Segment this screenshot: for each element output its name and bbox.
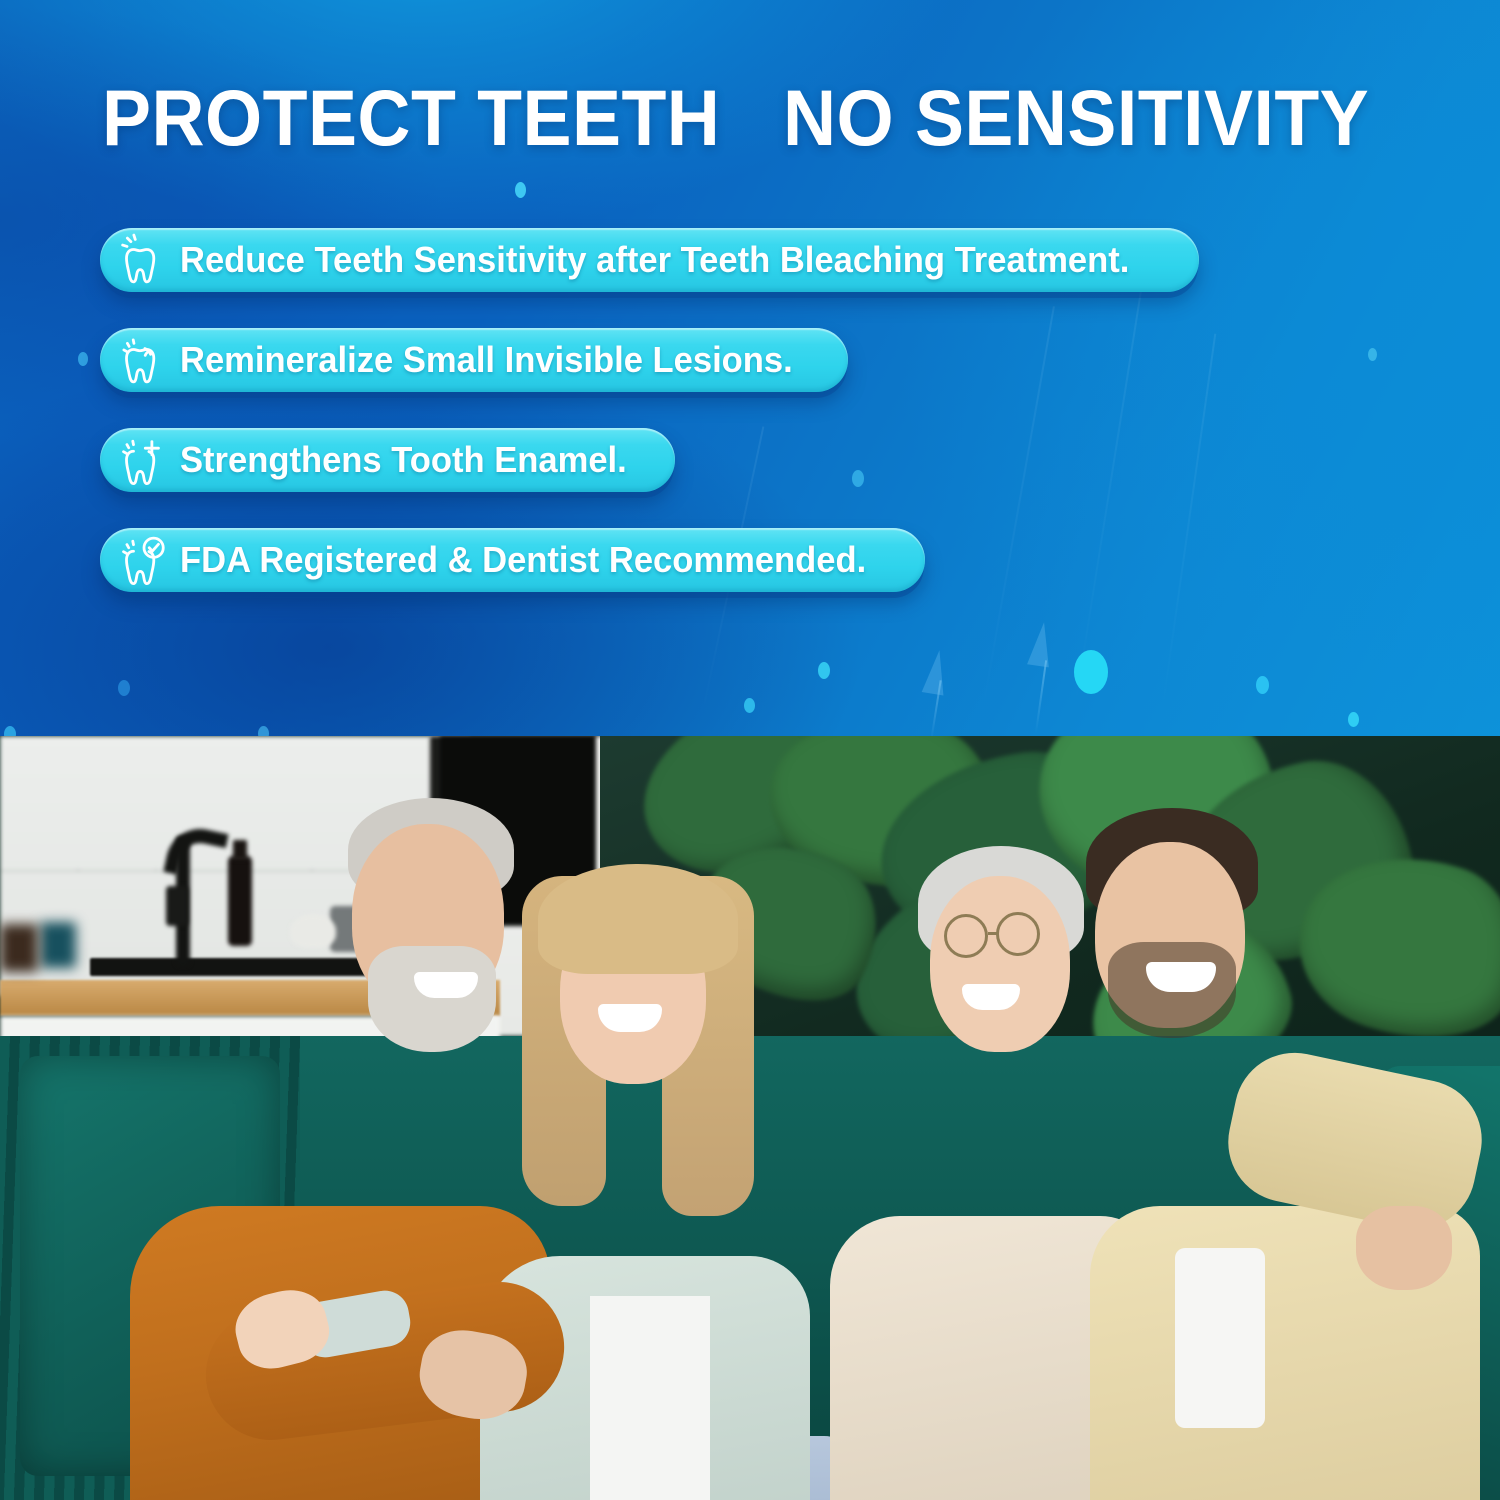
glasses-bridge [988,932,998,935]
tooth-check-icon [116,532,172,588]
decor-dot [78,352,88,366]
decor-dot [258,726,269,736]
promo-banner-page: PROTECT TEETH NO SENSITIVITY Reduce Teet… [0,0,1500,1500]
glasses-right-lens [996,912,1040,956]
older-man-smile [414,972,478,998]
feature-row: FDA Registered & Dentist Recommended. [100,528,1199,628]
decor-dot [1368,348,1377,361]
lifestyle-photo [0,736,1500,1500]
decor-dot [4,726,16,736]
feature-pill-fda[interactable]: FDA Registered & Dentist Recommended. [100,528,925,592]
decor-dot [118,680,130,696]
tooth-sensitivity-icon [116,232,172,288]
soap-dispenser-pump [233,840,247,860]
page-title: PROTECT TEETH NO SENSITIVITY [102,78,1339,157]
feature-pill-sensitivity[interactable]: Reduce Teeth Sensitivity after Teeth Ble… [100,228,1199,292]
decor-dot [1256,676,1269,694]
feature-list: Reduce Teeth Sensitivity after Teeth Ble… [100,228,1199,628]
white-bowl [290,914,336,948]
feature-row: Strengthens Tooth Enamel. [100,428,1199,528]
young-man-hand [1356,1206,1452,1290]
banner-section: PROTECT TEETH NO SENSITIVITY Reduce Teet… [0,0,1500,736]
decor-dot [1074,650,1108,694]
tooth-plus-icon [116,432,172,488]
young-woman-smile [598,1004,662,1032]
older-woman-face [930,876,1070,1052]
decor-dot [515,182,526,198]
decor-dot [818,662,830,679]
feature-row: Remineralize Small Invisible Lesions. [100,328,1199,428]
decor-dot [744,698,755,713]
young-man-smile [1146,962,1216,992]
young-woman-tee [590,1296,710,1500]
soap-dispenser [228,856,252,946]
older-man-beard [368,946,496,1052]
brown-jar [0,924,38,972]
young-woman-hair-top [538,864,738,974]
older-woman-smile [962,984,1020,1010]
tooth-lesion-icon [116,332,172,388]
decor-dot [1348,712,1359,727]
glasses-left-lens [944,914,988,958]
feature-row: Reduce Teeth Sensitivity after Teeth Ble… [100,228,1199,328]
faucet-head [166,886,188,926]
teal-mug [40,922,76,968]
feature-pill-remineralize[interactable]: Remineralize Small Invisible Lesions. [100,328,848,392]
feature-pill-enamel[interactable]: Strengthens Tooth Enamel. [100,428,675,492]
young-man-tee [1175,1248,1265,1428]
